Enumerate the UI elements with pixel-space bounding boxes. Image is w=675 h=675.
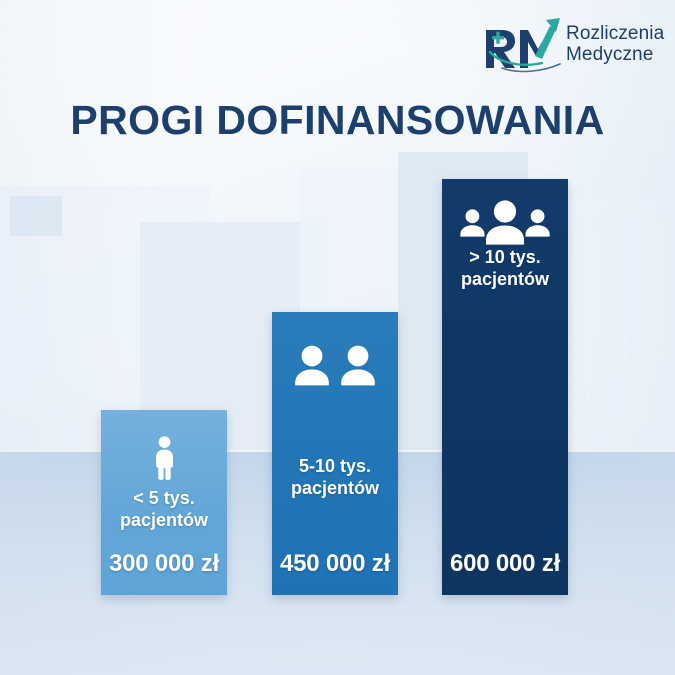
bar-1-value-label: 300 000 zł [101,550,227,578]
two-people-icon [272,334,398,386]
brand-logo[interactable]: Rozliczenia Medyczne [458,14,663,76]
rm-logo-mark-icon [480,16,566,74]
infographic-canvas: Rozliczenia Medyczne PROGI DOFINANSOWANI… [0,0,675,675]
brand-logo-line1: Rozliczenia [566,23,664,44]
three-people-group-icon [442,196,568,246]
bar-3-category-line1: > 10 tys. [442,247,568,269]
page-title: PROGI DOFINANSOWANIA [0,97,675,144]
bar-2-category: 5-10 tys. pacjentów [272,456,398,500]
bar-3-category: > 10 tys. pacjentów [442,247,568,291]
bar-1-category-line2: pacjentów [101,510,227,532]
brand-logo-line2: Medyczne [566,44,664,65]
bar-2-value-label: 450 000 zł [272,550,398,578]
brand-logo-text: Rozliczenia Medyczne [566,23,664,66]
bar-2-category-line2: pacjentów [272,478,398,500]
bar-column-3[interactable]: > 10 tys. pacjentów 600 000 zł [442,179,568,595]
bar-column-1[interactable]: < 5 tys. pacjentów 300 000 zł [101,410,227,595]
single-person-icon [101,426,227,482]
bar-1-category: < 5 tys. pacjentów [101,488,227,532]
bar-3-category-line2: pacjentów [442,269,568,291]
bar-3-value-label: 600 000 zł [442,550,568,578]
bar-column-2[interactable]: 5-10 tys. pacjentów 450 000 zł [272,312,398,595]
bar-2-category-line1: 5-10 tys. [272,456,398,478]
bar-1-category-line1: < 5 tys. [101,488,227,510]
